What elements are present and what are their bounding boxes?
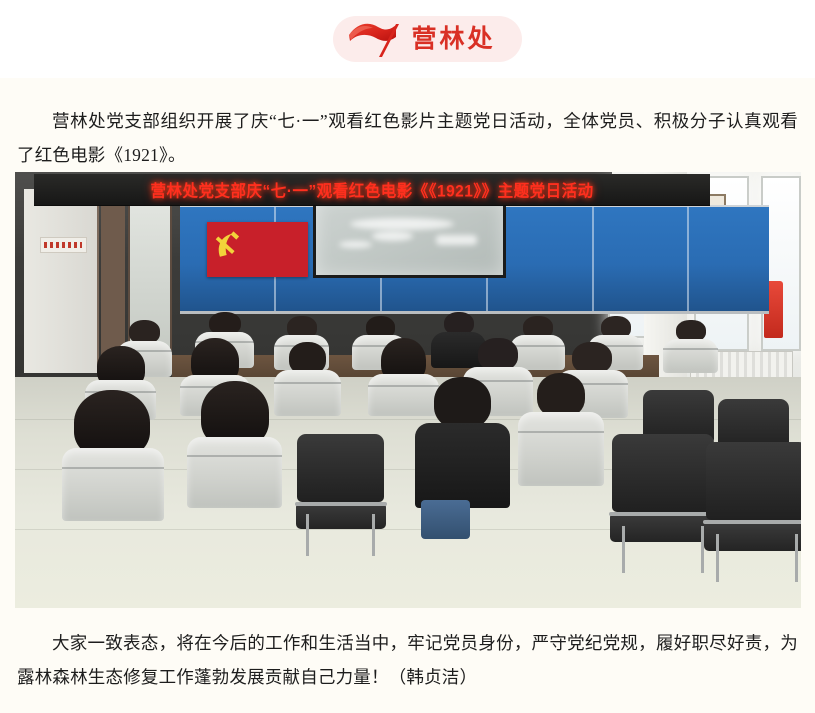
audience-person (415, 377, 509, 508)
hammer-sickle-icon (213, 228, 247, 262)
chair (297, 434, 383, 556)
brand-label: 营林处 (411, 27, 495, 52)
led-banner: 营林处党支部庆“七·一”观看红色电影《《1921》》主题党日活动 (34, 174, 710, 207)
page-header: 营林处 (0, 0, 815, 78)
brand-badge[interactable]: 营林处 (333, 16, 521, 62)
chair (706, 442, 800, 582)
chair (612, 434, 714, 574)
projection-screen (313, 195, 506, 278)
red-flag-icon (347, 19, 405, 59)
paragraph-conclusion: 大家一致表态，将在今后的工作和生活当中，牢记党员身份，严守党纪党规，履好职尽好责… (0, 608, 815, 694)
bottom-spacer (0, 694, 815, 702)
photo-canvas: 营林处党支部庆“七·一”观看红色电影《《1921》》主题党日活动 (15, 172, 801, 608)
communist-party-flag (207, 222, 308, 277)
audience-person (274, 342, 341, 416)
left-door (24, 189, 99, 372)
audience-person (187, 381, 281, 507)
article-body: 营林处党支部组织开展了庆“七·一”观看红色影片主题党日活动，全体党员、积极分子认… (0, 78, 815, 713)
audience-person (663, 320, 718, 372)
paragraph-intro: 营林处党支部组织开展了庆“七·一”观看红色影片主题党日活动，全体党员、积极分子认… (0, 78, 815, 172)
led-banner-text: 营林处党支部庆“七·一”观看红色电影《《1921》》主题党日活动 (151, 178, 594, 201)
activity-photo: 营林处党支部庆“七·一”观看红色电影《《1921》》主题党日活动 (15, 172, 801, 608)
audience-person (62, 390, 164, 521)
audience-person (518, 373, 604, 486)
no-smoking-sign (40, 237, 87, 253)
